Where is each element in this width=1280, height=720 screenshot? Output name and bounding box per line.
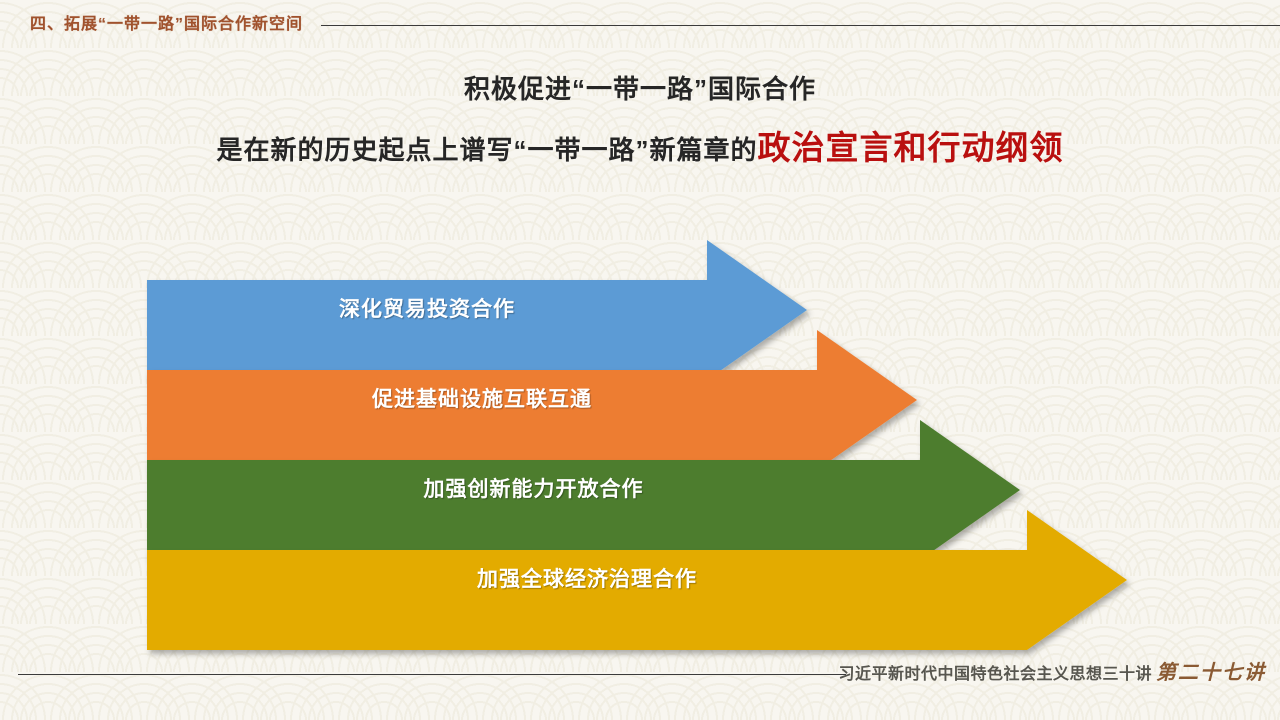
slide-footer: 习近平新时代中国特色社会主义思想三十讲 第二十七讲 — [0, 664, 1280, 720]
arrow-item-4[interactable]: 加强全球经济治理合作 — [147, 510, 1147, 690]
footer-series-title: 习近平新时代中国特色社会主义思想三十讲 — [838, 664, 1152, 686]
footer-divider-rule — [18, 674, 846, 675]
arrow-diagram: 深化贸易投资合作 促进基础设施互联互通 — [0, 0, 1280, 720]
footer-lecture-number: 第二十七讲 — [1156, 660, 1266, 686]
slide-canvas: 四、拓展“一带一路”国际合作新空间 积极促进“一带一路”国际合作 是在新的历史起… — [0, 0, 1280, 720]
arrow-polygon-4 — [147, 510, 1127, 650]
